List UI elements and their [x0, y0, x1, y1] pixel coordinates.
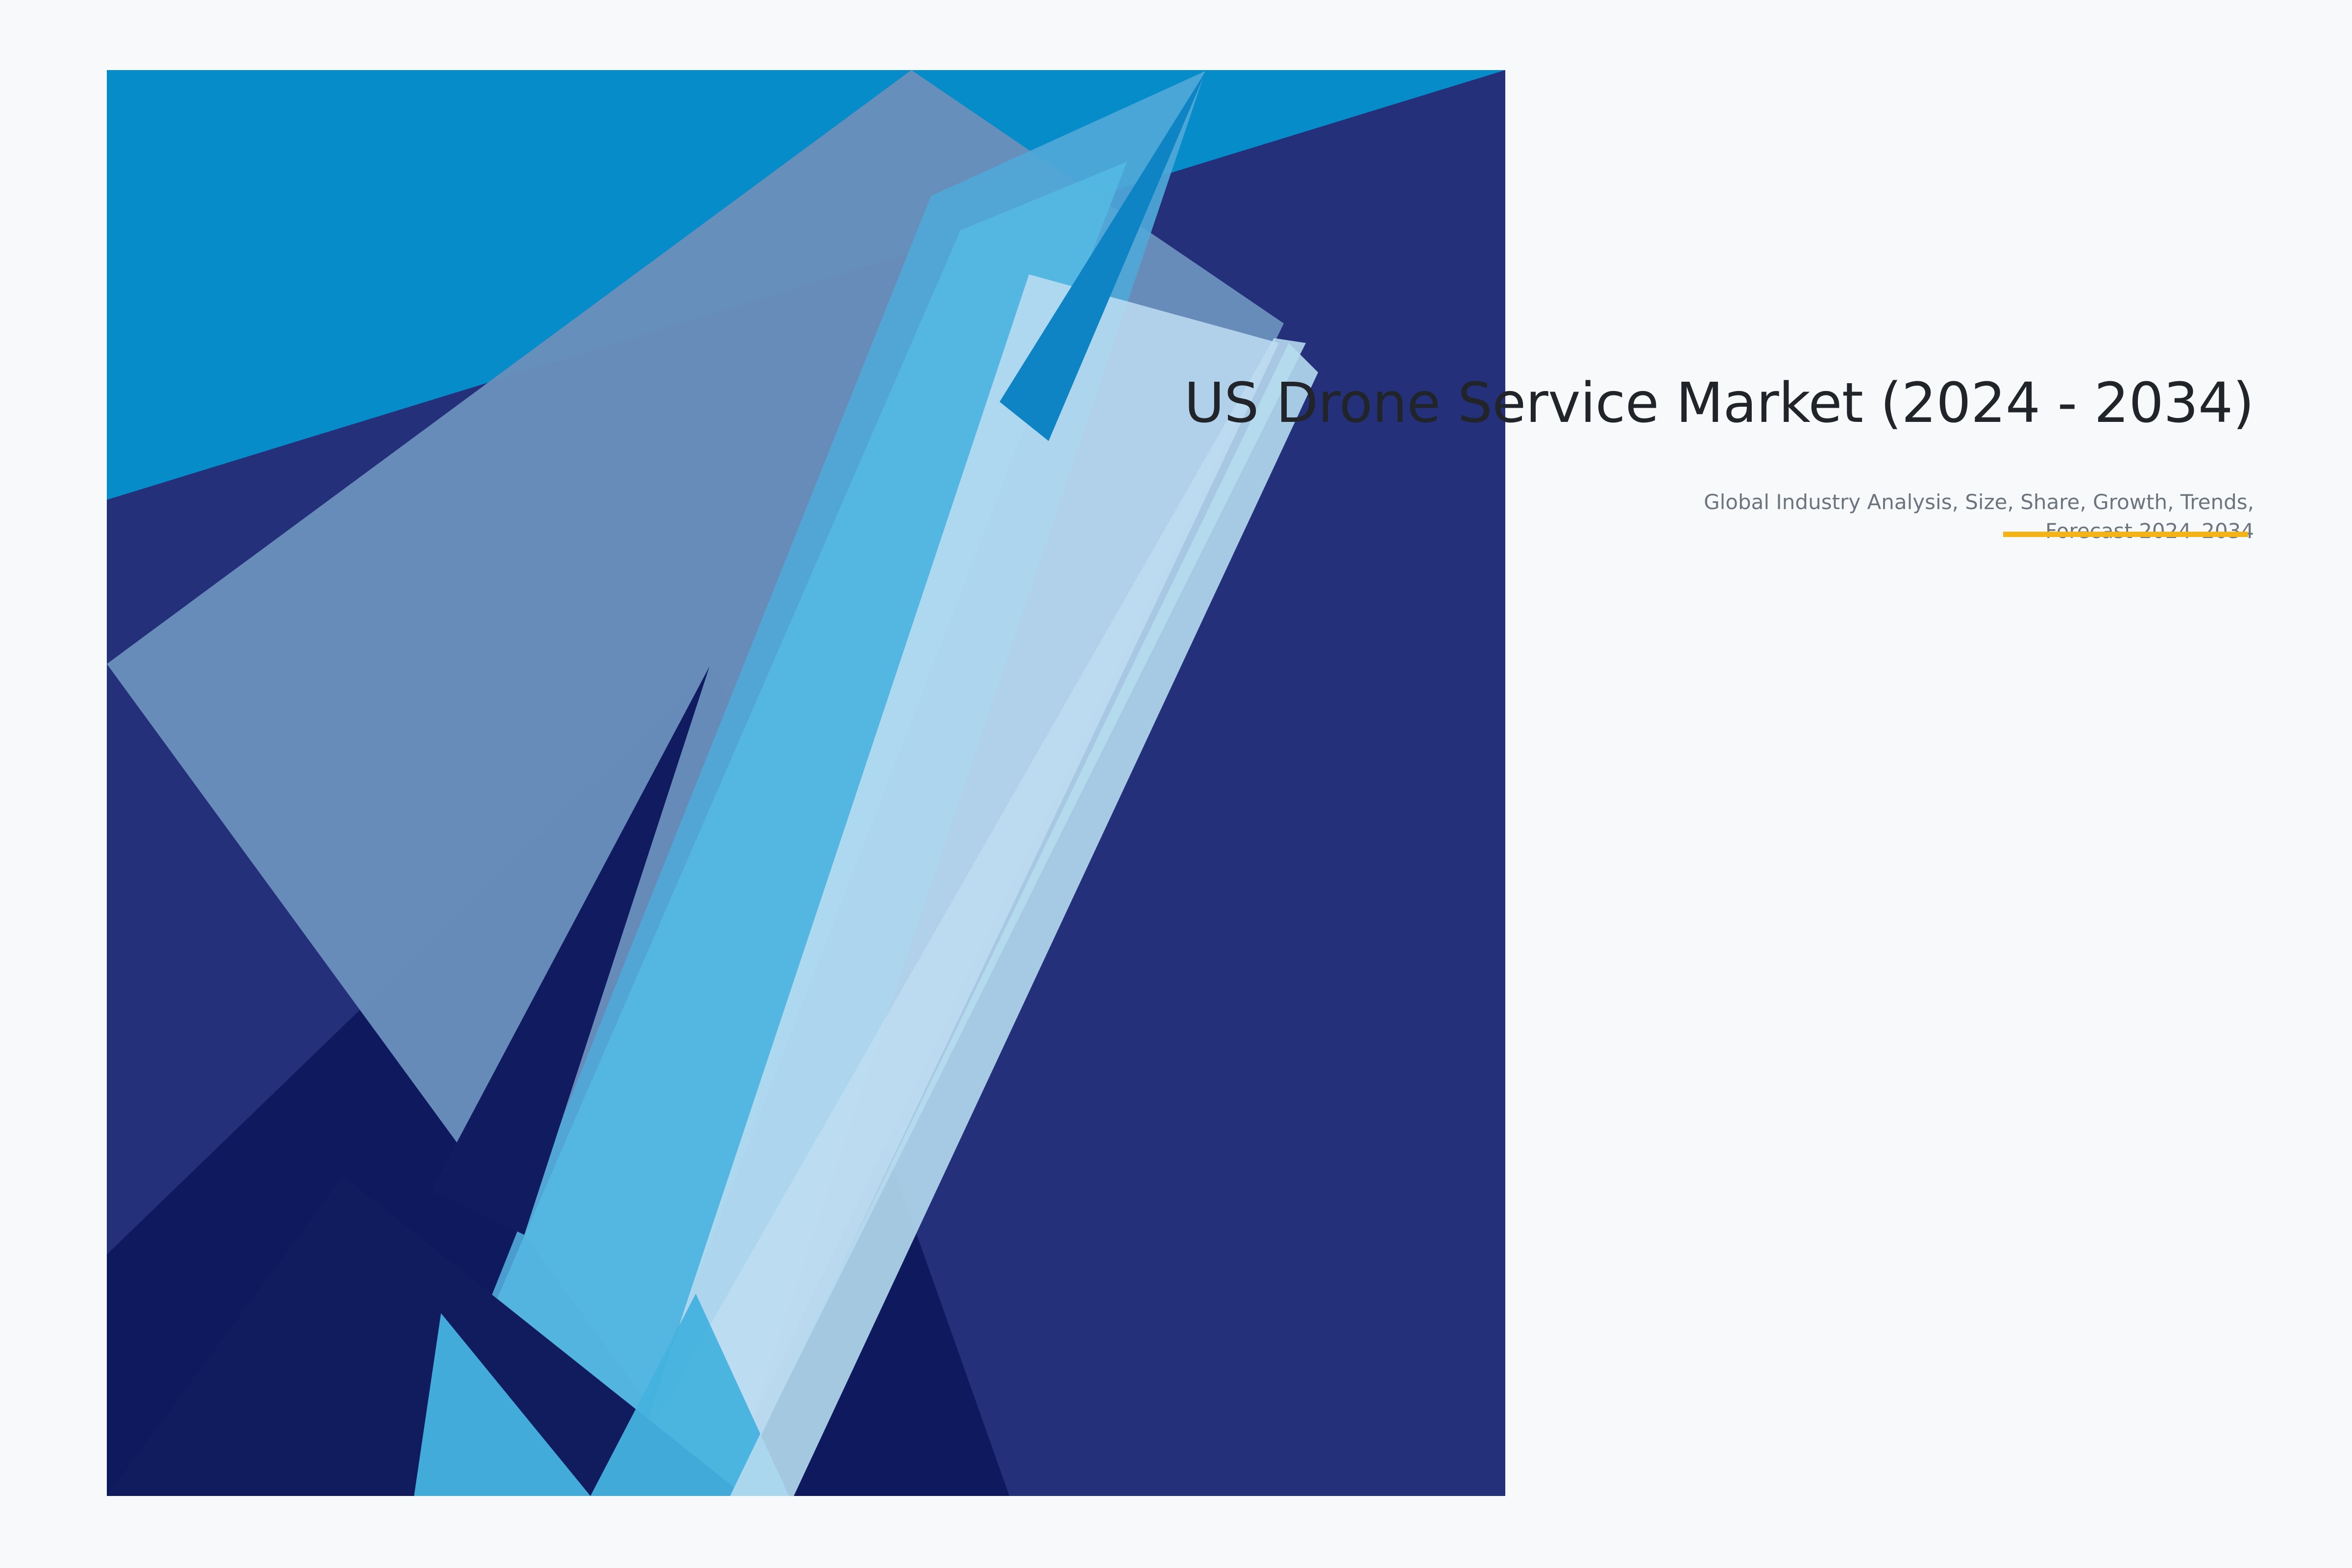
sky-blue-sweep	[412, 162, 1127, 1496]
page-title: US Drone Service Market (2024 - 2034)	[980, 372, 2254, 435]
cyan-field	[107, 70, 1505, 1496]
deep-navy-spike	[431, 666, 710, 1235]
title-slide: US Drone Service Market (2024 - 2034) Gl…	[0, 0, 2352, 1568]
page-subtitle: Global Industry Analysis, Size, Share, G…	[1617, 435, 2254, 546]
title-text-block: US Drone Service Market (2024 - 2034) Gl…	[980, 372, 2254, 546]
navy-band	[107, 70, 1505, 1496]
sky-notch-right	[590, 1294, 789, 1496]
deep-navy-wedge	[107, 666, 1009, 1496]
title-accent-bar	[2003, 532, 2248, 537]
sky-notch-left	[414, 1313, 590, 1496]
deep-navy-base	[107, 1176, 745, 1496]
title-wrapper: US Drone Service Market (2024 - 2034)	[980, 372, 2254, 435]
mid-blue-sweep	[412, 71, 1205, 1496]
slate-quadrilateral	[107, 70, 1284, 1496]
abstract-geometric-artwork	[0, 0, 2352, 1568]
